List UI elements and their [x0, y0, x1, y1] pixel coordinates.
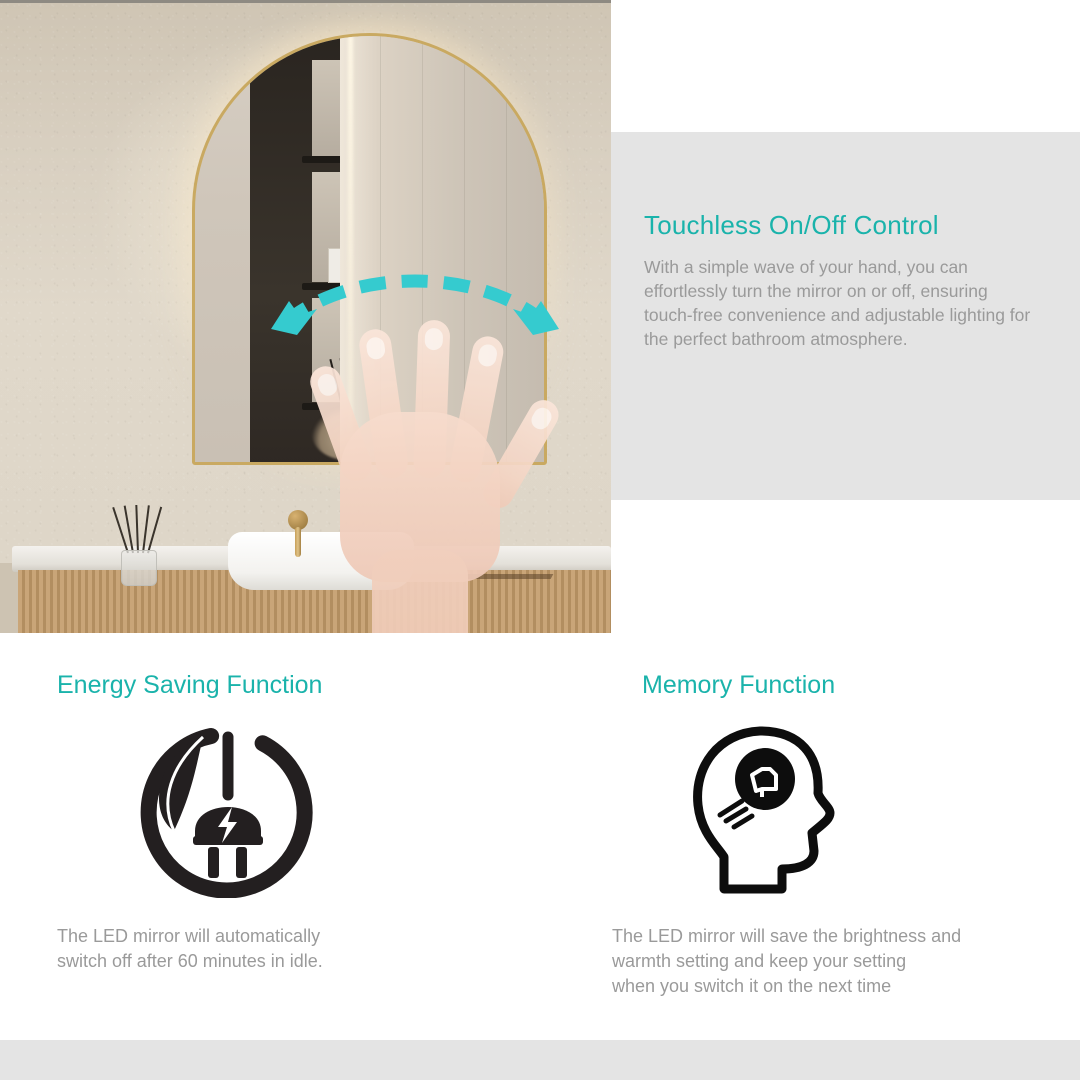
- energy-saving-description: The LED mirror will automatically switch…: [57, 924, 477, 974]
- hero-section: Touchless On/Off Control With a simple w…: [0, 0, 1080, 633]
- feature-memory: Memory Function The LED mirror will save…: [540, 633, 1080, 1040]
- feature-energy-saving: Energy Saving Function The LED mirr: [0, 633, 540, 1040]
- memory-function-description: The LED mirror will save the brightness …: [612, 924, 1062, 999]
- energy-saving-title: Energy Saving Function: [57, 671, 322, 700]
- reed-diffuser-sticks: [124, 503, 154, 553]
- bathroom-mirror-photo: [0, 0, 611, 633]
- touchless-control-title: Touchless On/Off Control: [644, 210, 1040, 241]
- memory-function-title: Memory Function: [642, 671, 835, 700]
- waving-hand: [280, 300, 611, 633]
- leaf-plug-energy-saving-icon: [140, 723, 315, 903]
- features-row: Energy Saving Function The LED mirr: [0, 633, 1080, 1040]
- touchless-control-panel: Touchless On/Off Control With a simple w…: [611, 132, 1080, 500]
- reed-diffuser-jar: [121, 550, 157, 586]
- bottom-gray-strip: [0, 1040, 1080, 1080]
- touchless-control-description: With a simple wave of your hand, you can…: [644, 255, 1040, 351]
- head-lightbulb-memory-icon: [690, 723, 855, 903]
- wave-gesture-arrow-icon: [255, 265, 575, 345]
